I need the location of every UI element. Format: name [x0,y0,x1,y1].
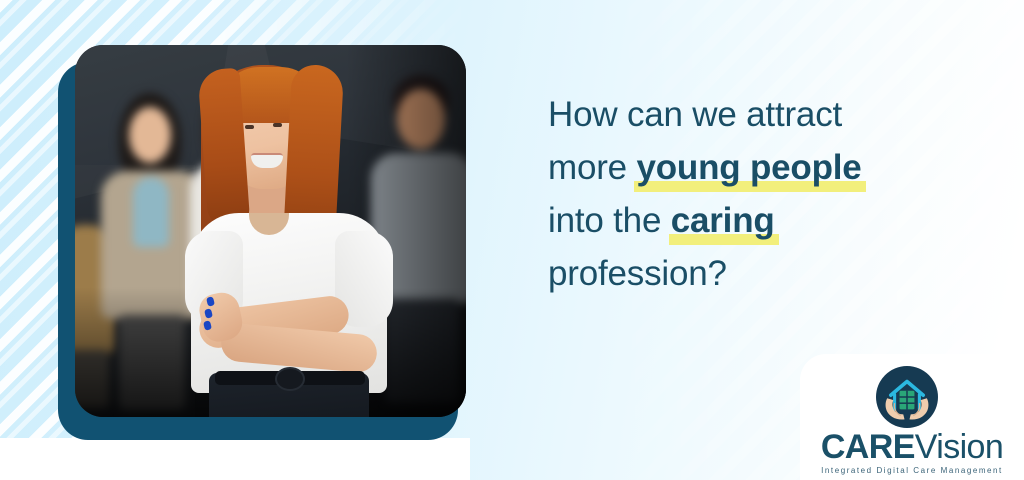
bottom-white-band [0,438,470,480]
headline-line-3: into the caring [548,194,978,247]
headline-line-1: How can we attract [548,88,978,141]
headline-line-2: more young people [548,141,978,194]
logo-tagline: Integrated Digital Care Management [800,466,1024,475]
headline-highlight-caring: caring [671,194,775,247]
foreground-subject [175,55,405,417]
promotional-banner: How can we attract more young people int… [0,0,1024,480]
headline: How can we attract more young people int… [548,88,978,300]
headline-line-3-prefix: into the [548,201,671,240]
headline-highlight-text: young people [636,148,861,187]
headline-line-2-prefix: more [548,148,636,187]
headline-line-4: profession? [548,247,978,300]
photo-scene [75,45,466,417]
logo-word-care: CARE [821,428,915,466]
logo-word-vision: Vision [915,428,1003,466]
headline-highlight-young-people: young people [636,141,861,194]
house-in-caring-hands-logo-icon [876,366,938,428]
hero-photo [75,45,466,417]
headline-highlight-text: caring [671,201,775,240]
logo-wordmark: CAREVision [800,430,1024,464]
logo-panel[interactable]: CAREVision Integrated Digital Care Manag… [800,354,1024,480]
